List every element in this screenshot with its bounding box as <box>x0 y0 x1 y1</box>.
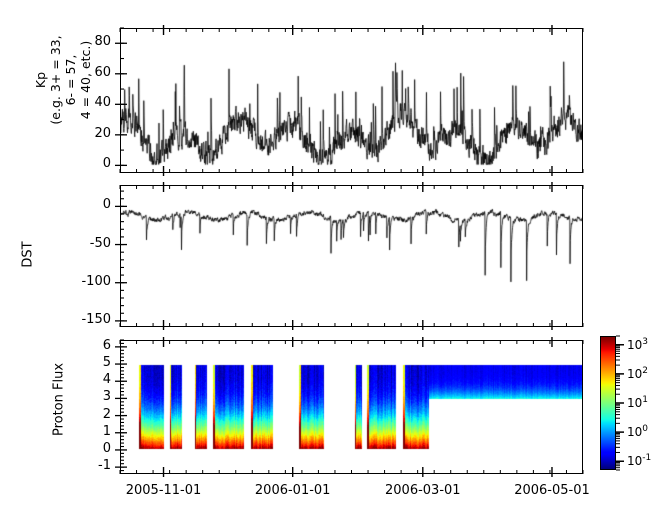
colorbar-tick-label: 10-1 <box>627 453 651 468</box>
y-tick-label: 40 <box>94 95 111 110</box>
y-tick-label: 0 <box>103 441 111 456</box>
y-tick-label: 3 <box>103 389 111 404</box>
y-tick-label: 80 <box>94 34 111 49</box>
dst-data-canvas <box>121 186 582 326</box>
colorbar-tick-label: 100 <box>627 424 648 439</box>
y-tick-label: -150 <box>81 312 111 327</box>
y-tick-label: 0 <box>103 197 111 212</box>
x-tick-label: 2005-11-01 <box>117 483 211 498</box>
colorbar-tick-label: 101 <box>627 395 648 410</box>
colorbar-gradient <box>600 336 616 470</box>
colorbar-tick-label: 102 <box>627 366 648 381</box>
y-tick-label: 2 <box>103 407 111 422</box>
y-tick-label: -100 <box>81 274 111 289</box>
y-tick-label: 4 <box>103 372 111 387</box>
x-tick-label: 2006-05-01 <box>505 483 599 498</box>
y-tick-label: 5 <box>103 355 111 370</box>
figure-root: Kp(e.g. 3+ = 33,6- = 57,4 = 40, etc.) DS… <box>0 0 665 523</box>
colorbar-tick-label: 103 <box>627 337 648 352</box>
proton-flux-axis-label: Proton Flux <box>52 335 67 465</box>
dst-axis-label: DST <box>21 205 36 305</box>
y-tick-label: 6 <box>103 338 111 353</box>
kp-data-canvas <box>121 29 582 172</box>
x-tick-label: 2006-01-01 <box>246 483 340 498</box>
kp-axis-label: Kp(e.g. 3+ = 33,6- = 57,4 = 40, etc.) <box>33 0 93 185</box>
y-tick-label: -50 <box>90 236 111 251</box>
y-tick-label: 20 <box>94 126 111 141</box>
proton-flux-heatmap-canvas <box>121 341 582 473</box>
y-tick-label: 1 <box>103 424 111 439</box>
y-tick-label: 60 <box>94 65 111 80</box>
y-tick-label: 0 <box>103 156 111 171</box>
y-tick-label: -1 <box>98 458 111 473</box>
x-tick-label: 2006-03-01 <box>376 483 470 498</box>
